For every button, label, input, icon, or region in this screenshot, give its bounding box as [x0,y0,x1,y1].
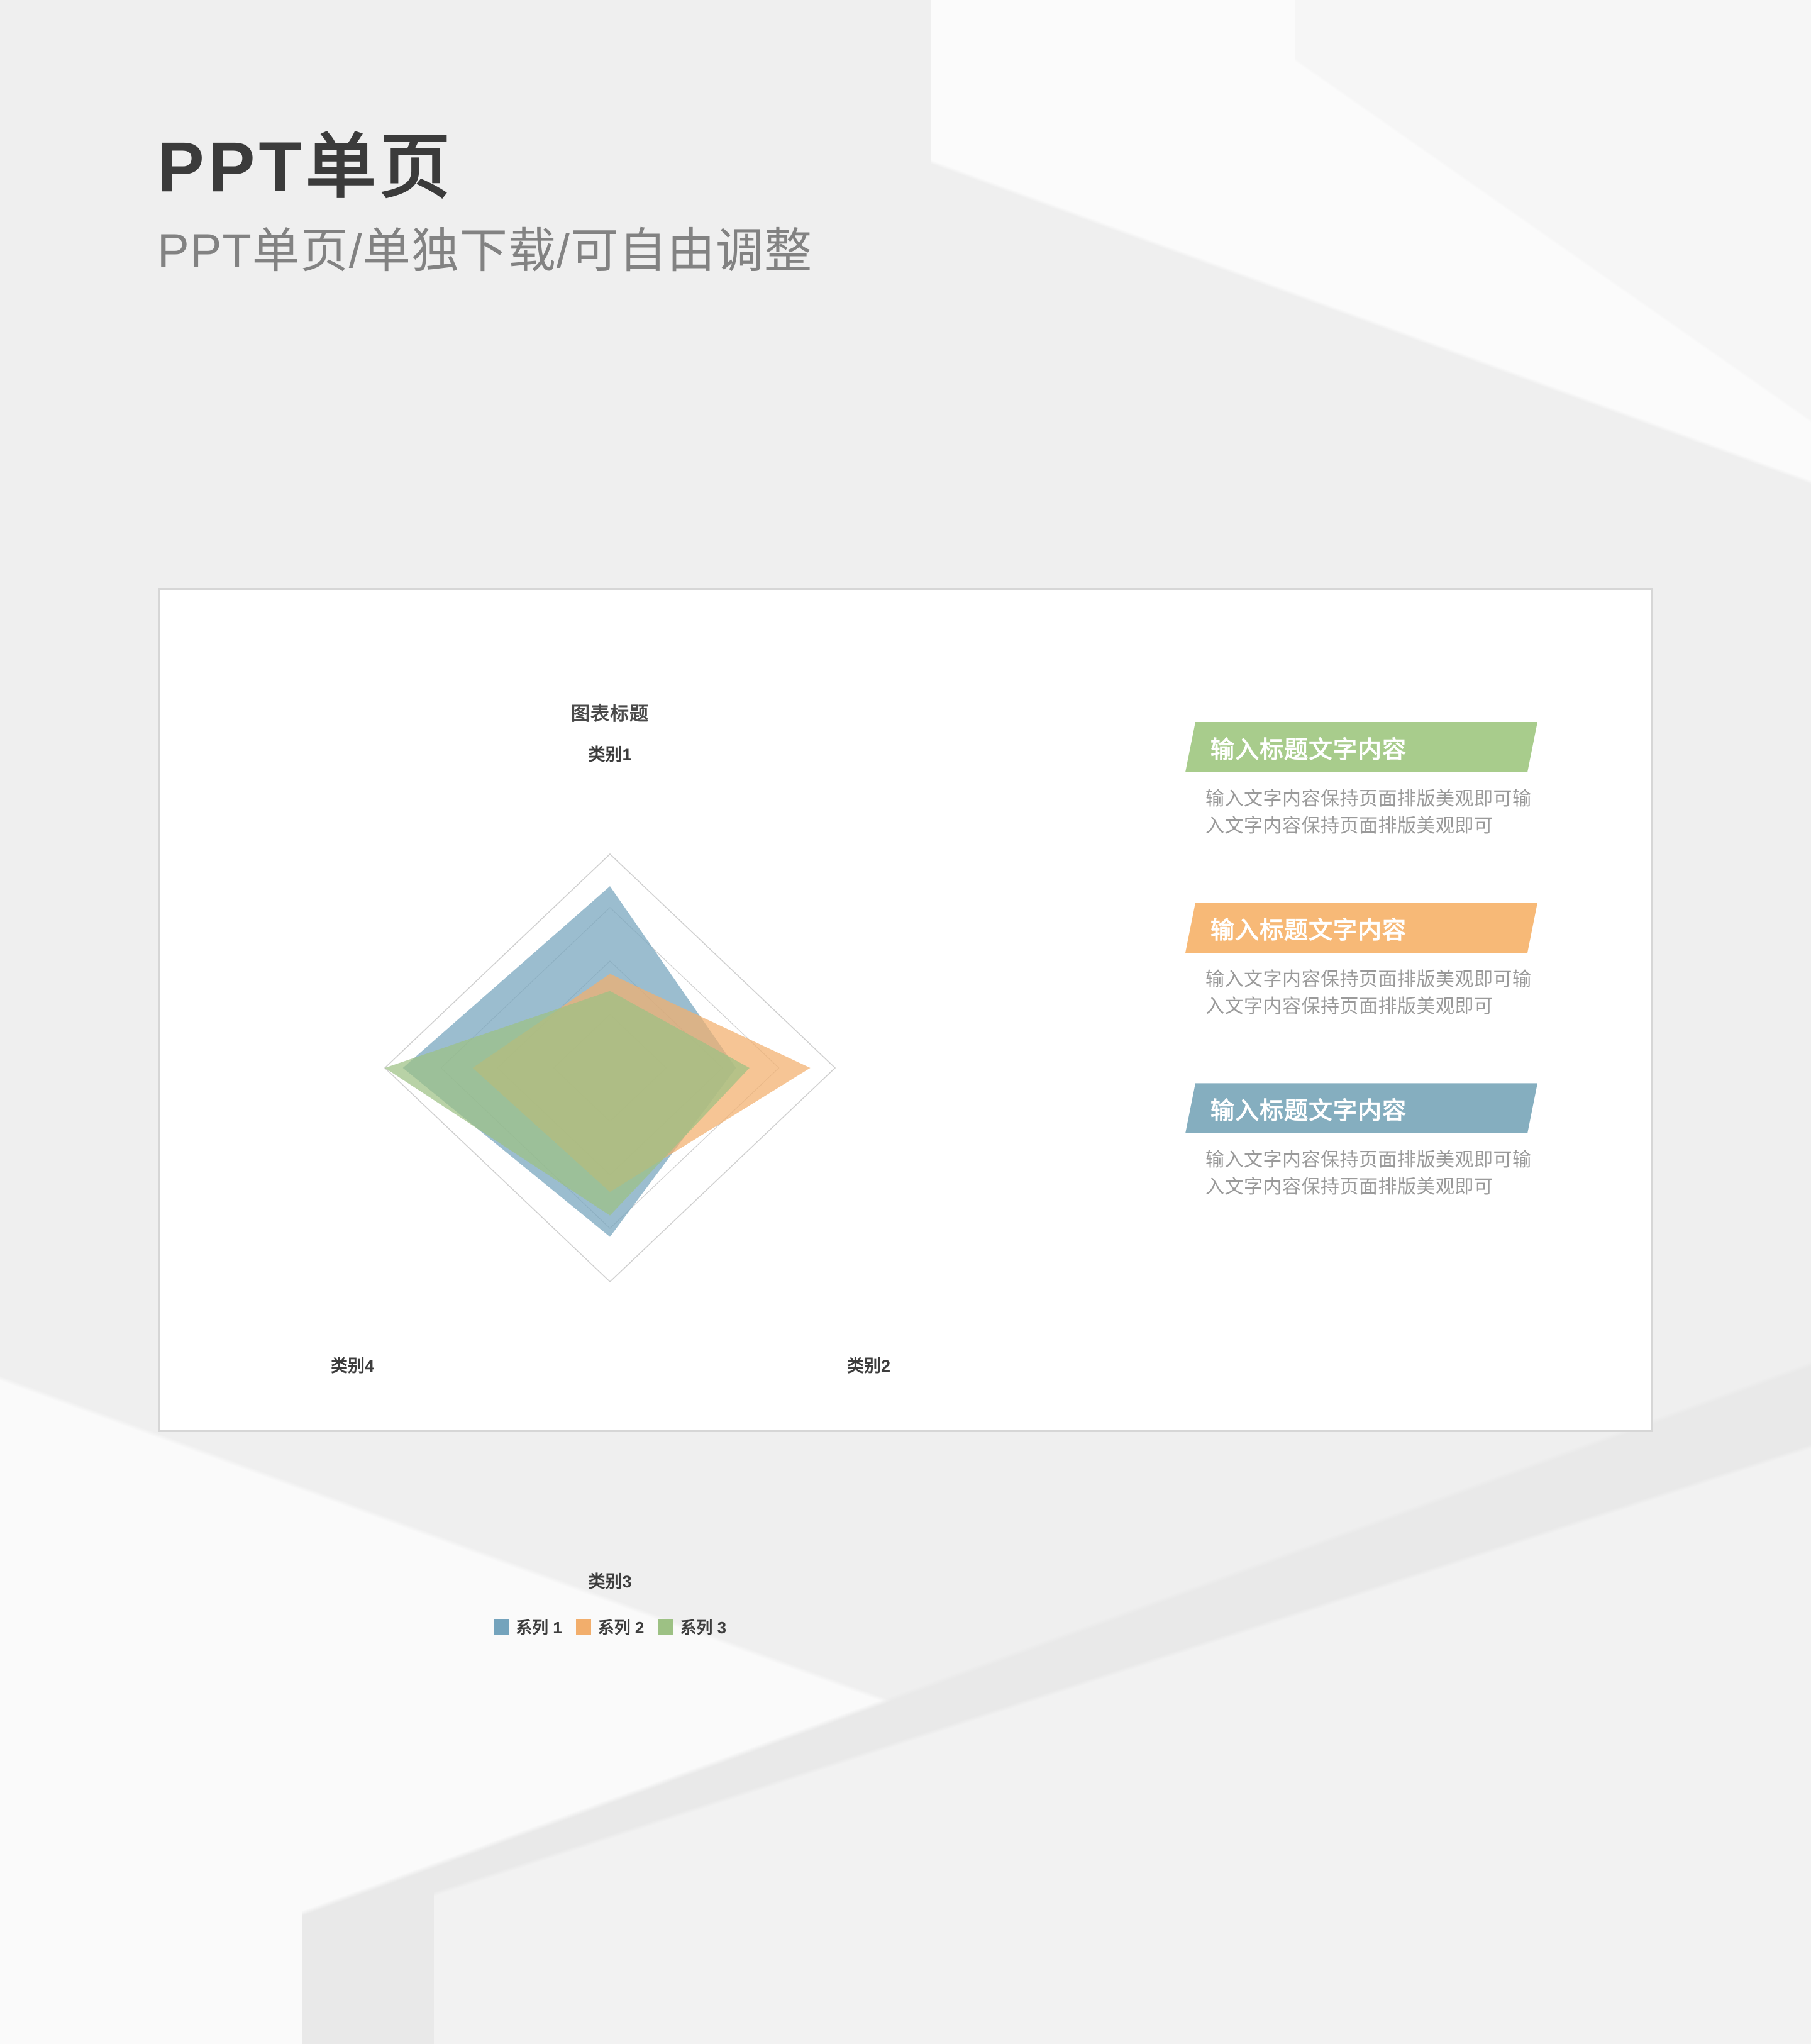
text-panel: 输入标题文字内容输入文字内容保持页面排版美观即可输入文字内容保持页面排版美观即可 [1185,722,1575,840]
panel-body-text: 输入文字内容保持页面排版美观即可输入文字内容保持页面排版美观即可 [1185,1147,1550,1201]
text-panel: 输入标题文字内容输入文字内容保持页面排版美观即可输入文字内容保持页面排版美观即可 [1185,1083,1575,1201]
legend-swatch-icon [494,1619,509,1635]
radar-axis-label-2: 类别2 [847,1352,890,1377]
text-panel: 输入标题文字内容输入文字内容保持页面排版美观即可输入文字内容保持页面排版美观即可 [1185,903,1575,1020]
legend-swatch-icon [658,1619,673,1635]
bg-wash-2 [1295,0,1811,478]
radar-axis-label-3: 类别3 [211,1568,1009,1592]
panel-banner-label: 输入标题文字内容 [1210,730,1407,765]
panel-banner-label: 输入标题文字内容 [1210,911,1407,945]
panel-banner-label: 输入标题文字内容 [1210,1091,1407,1126]
legend-item[interactable]: 系列 1 [494,1615,562,1638]
legend-label: 系列 2 [598,1615,645,1638]
legend-label: 系列 1 [516,1615,562,1638]
panel-banner[interactable]: 输入标题文字内容 [1185,1083,1537,1133]
radar-chart: 图表标题 类别1 类别2 类别3 类别4 系列 1系列 2系列 3 [211,653,1009,1282]
text-panel-list: 输入标题文字内容输入文字内容保持页面排版美观即可输入文字内容保持页面排版美观即可… [1185,722,1575,1201]
chart-legend: 系列 1系列 2系列 3 [211,1615,1009,1638]
slide-card: 图表标题 类别1 类别2 类别3 类别4 系列 1系列 2系列 3 输入标题文字… [158,588,1653,1432]
panel-banner[interactable]: 输入标题文字内容 [1185,903,1537,953]
radar-axis-label-4: 类别4 [331,1352,374,1377]
legend-swatch-icon [576,1619,591,1635]
panel-banner[interactable]: 输入标题文字内容 [1185,722,1537,772]
page-header: PPT单页 PPT单页/单独下载/可自由调整 [157,132,812,275]
panel-body-text: 输入文字内容保持页面排版美观即可输入文字内容保持页面排版美观即可 [1185,967,1550,1020]
legend-item[interactable]: 系列 2 [576,1615,645,1638]
legend-label: 系列 3 [680,1615,726,1638]
page-subtitle: PPT单页/单独下载/可自由调整 [157,228,812,275]
legend-item[interactable]: 系列 3 [658,1615,726,1638]
page-title: PPT单页 [157,132,812,203]
radar-series-group [385,886,811,1237]
panel-body-text: 输入文字内容保持页面排版美观即可输入文字内容保持页面排版美观即可 [1185,786,1550,840]
radar-axis-label-1: 类别1 [211,741,1009,765]
